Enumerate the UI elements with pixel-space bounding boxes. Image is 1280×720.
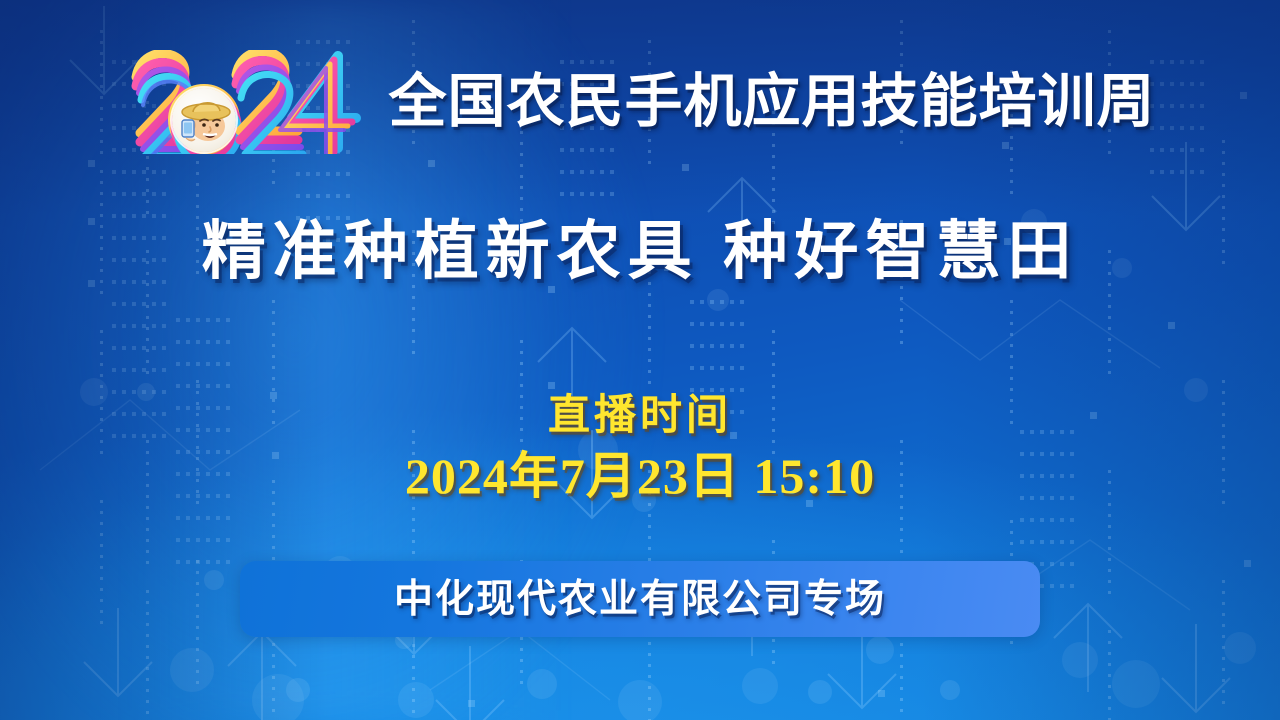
event-title: 全国农民手机应用技能培训周 — [388, 73, 1155, 131]
live-datetime-value: 2024年7月23日 15:10 — [0, 448, 1280, 504]
sponsor-banner: 中化现代农业有限公司专场 — [240, 561, 1040, 637]
sponsor-name: 中化现代农业有限公司专场 — [394, 580, 886, 619]
livestream-poster: 全国农民手机应用技能培训周 精准种植新农具 种好智慧田 直播时间 2024年7月… — [0, 0, 1280, 720]
headline-slogan: 精准种植新农具 种好智慧田 — [0, 216, 1280, 286]
poster-header: 全国农民手机应用技能培训周 — [0, 48, 1280, 156]
year-2024-logo — [124, 50, 370, 154]
live-time-label: 直播时间 — [0, 390, 1280, 440]
farmer-with-phone-icon — [172, 88, 236, 152]
live-time-block: 直播时间 2024年7月23日 15:10 — [0, 390, 1280, 504]
